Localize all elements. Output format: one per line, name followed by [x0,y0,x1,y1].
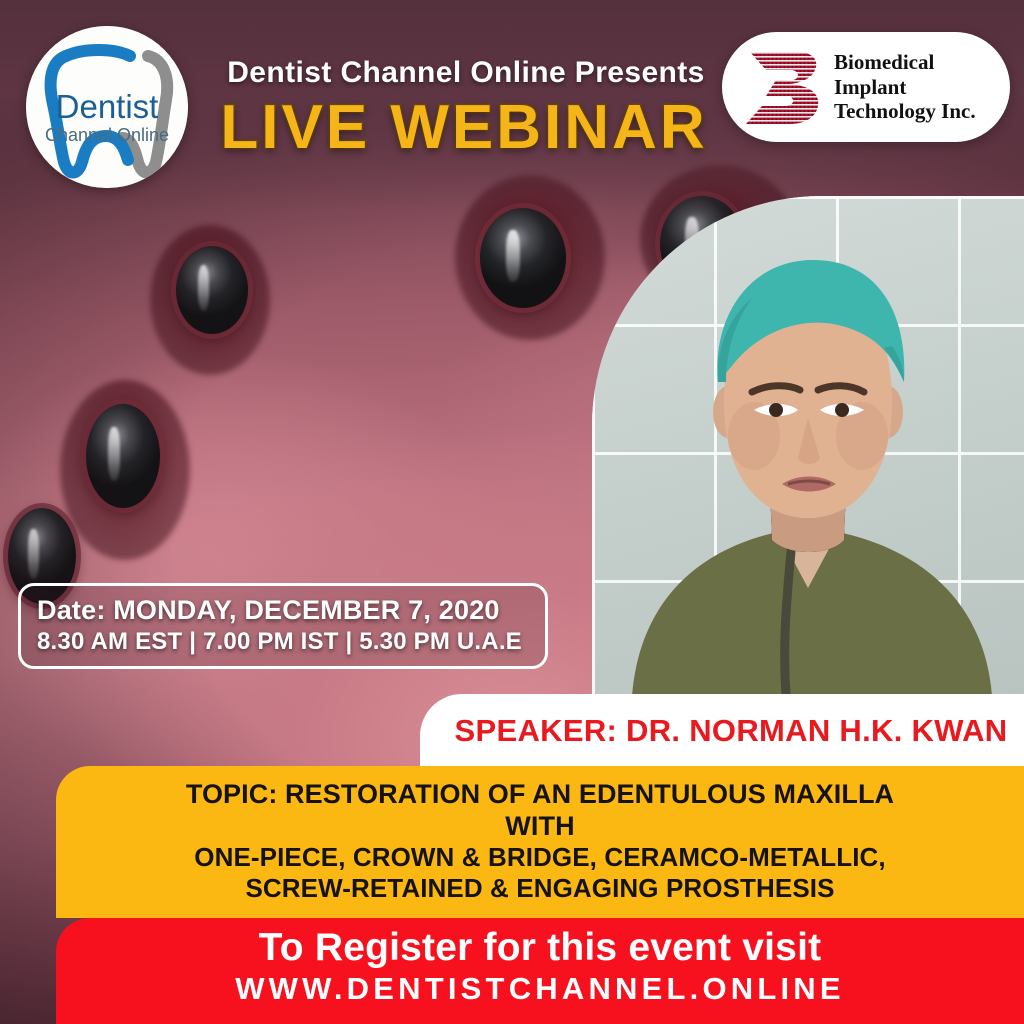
page-title: LIVE WEBINAR [190,92,738,163]
logo-subtitle: Channel.Online [45,125,169,145]
register-headline: To Register for this event visit [56,926,1024,970]
webinar-poster: Dentist Channel.Online Dentist Channel O… [0,0,1024,1024]
date-label: Date: [37,595,106,625]
logo-title: Dentist [56,88,159,125]
topic-line-4: SCREW-RETAINED & ENGAGING PROSTHESIS [56,873,1024,904]
topic-line-2: WITH [56,810,1024,842]
speaker-name: SPEAKER: DR. NORMAN H.K. KWAN [437,713,1008,749]
partner-logo: Biomedical Implant Technology Inc. [722,32,1010,142]
partner-name-line1: Biomedical Implant [834,50,1010,99]
presents-line: Dentist Channel Online Presents [196,56,736,90]
topic-band: TOPIC: RESTORATION OF AN EDENTULOUS MAXI… [56,766,1024,918]
speaker-photo [592,196,1024,696]
speaker-portrait [592,196,1024,696]
event-date-box: Date: MONDAY, DECEMBER 7, 2020 8.30 AM E… [18,583,548,669]
register-band: To Register for this event visit WWW.DEN… [56,918,1024,1024]
event-date-line: Date: MONDAY, DECEMBER 7, 2020 [37,595,545,626]
topic-line-1: TOPIC: RESTORATION OF AN EDENTULOUS MAXI… [56,778,1024,810]
date-value: MONDAY, DECEMBER 7, 2020 [113,595,499,625]
speaker-bar: SPEAKER: DR. NORMAN H.K. KWAN [420,694,1024,768]
biomedical-implant-b-mark [736,44,828,130]
topic-line-3: ONE-PIECE, CROWN & BRIDGE, CERAMCO-METAL… [56,842,1024,873]
dentist-channel-online-logo: Dentist Channel.Online [26,26,188,188]
partner-name-line2: Technology Inc. [834,99,1010,123]
register-url[interactable]: WWW.DENTISTCHANNEL.ONLINE [56,972,1024,1007]
event-times: 8.30 AM EST | 7.00 PM IST | 5.30 PM U.A.… [37,628,545,656]
